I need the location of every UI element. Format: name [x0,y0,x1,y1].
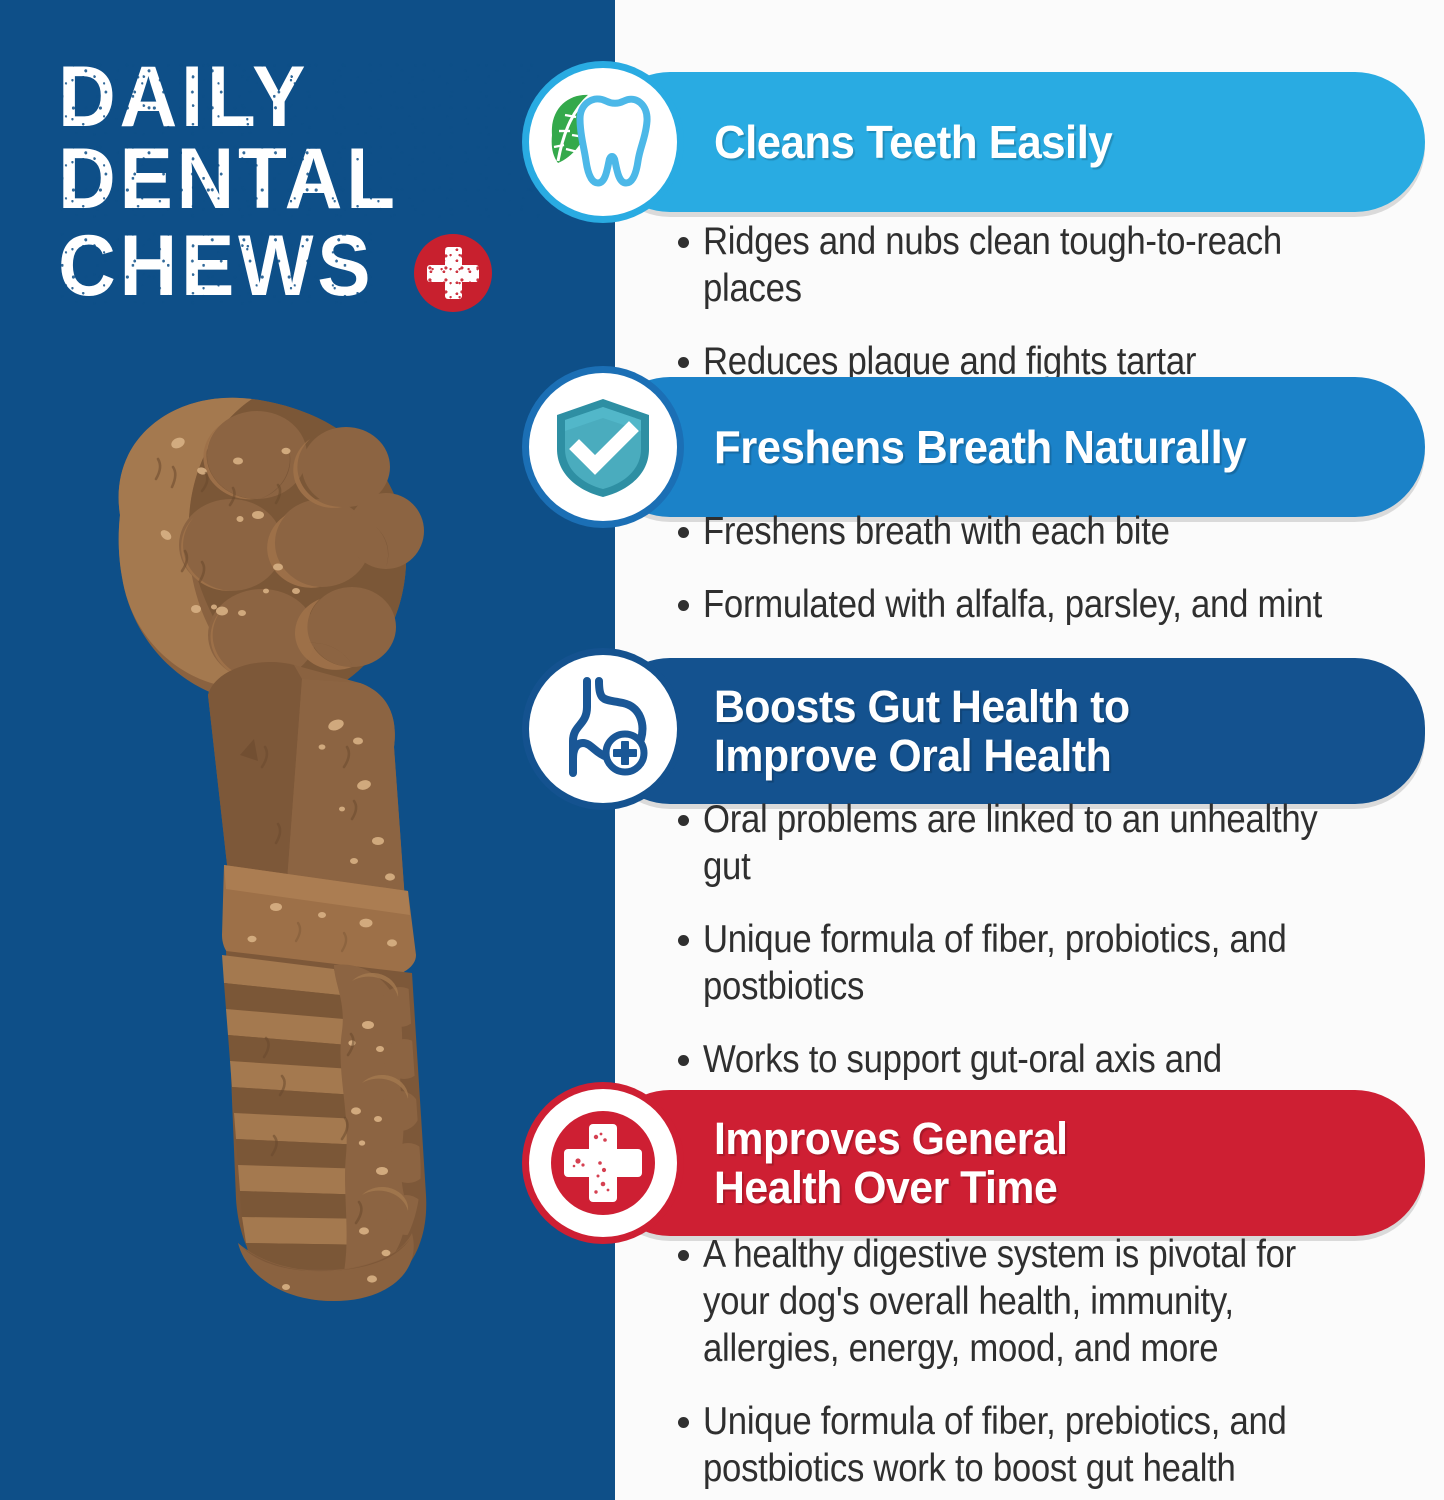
bullet-text: Oral problems are linked to an unhealthy… [703,796,1366,890]
bullet-text: A healthy digestive system is pivotal fo… [703,1231,1366,1372]
bullet-text: Ridges and nubs clean tough-to-reach pla… [703,218,1366,312]
section-header-pill[interactable]: Cleans Teeth Easily [600,72,1425,212]
bullet-dot [678,815,689,826]
section-heading-line-2: Health Over Time [714,1162,1057,1213]
list-item: Unique formula of fiber, prebiotics, and… [678,1398,1444,1492]
section-bullets: A healthy digestive system is pivotal fo… [678,1231,1444,1500]
bullet-dot [678,1250,689,1261]
bullet-dot [678,237,689,248]
bullet-dot [678,600,689,611]
medical-cross-icon [529,1089,677,1237]
section-heading-line-1: Boosts Gut Health to [714,681,1130,732]
section-heading-line-1: Improves General [714,1113,1068,1164]
section-heading: Boosts Gut Health to Improve Oral Health [600,682,1154,780]
list-item: Formulated with alfalfa, parsley, and mi… [678,581,1444,628]
tooth-shape [580,99,647,183]
tooth-mint-icon [529,68,677,216]
bullet-text: Unique formula of fiber, prebiotics, and… [703,1398,1366,1492]
section-bullets: Freshens breath with each bite Formulate… [678,508,1444,654]
shield-check-icon [529,373,677,521]
section-heading: Cleans Teeth Easily [600,117,1137,167]
list-item: Unique formula of fiber, probiotics, and… [678,916,1444,1010]
section-header-pill[interactable]: Improves General Health Over Time [600,1090,1425,1236]
list-item: Freshens breath with each bite [678,508,1444,555]
list-item: Oral problems are linked to an unhealthy… [678,796,1444,890]
stomach-plus-icon [529,655,677,803]
section-header-pill[interactable]: Boosts Gut Health to Improve Oral Health [600,658,1425,804]
bullet-text: Unique formula of fiber, probiotics, and… [703,916,1366,1010]
list-item: Ridges and nubs clean tough-to-reach pla… [678,218,1444,312]
bullet-dot [678,1055,689,1066]
bullet-text: Formulated with alfalfa, parsley, and mi… [703,581,1366,628]
section-heading-line-2: Improve Oral Health [714,730,1111,781]
section-heading: Freshens Breath Naturally [600,422,1271,472]
product-infographic: DAILY DENTAL CHEWS [0,0,1444,1500]
bullet-dot [678,357,689,368]
bullet-dot [678,527,689,538]
section-header-pill[interactable]: Freshens Breath Naturally [600,377,1425,517]
bullet-dot [678,1417,689,1428]
bullet-text: Freshens breath with each bite [703,508,1366,555]
benefit-sections: Cleans Teeth Easily [0,0,1444,1500]
bullet-dot [678,935,689,946]
list-item: A healthy digestive system is pivotal fo… [678,1231,1444,1372]
